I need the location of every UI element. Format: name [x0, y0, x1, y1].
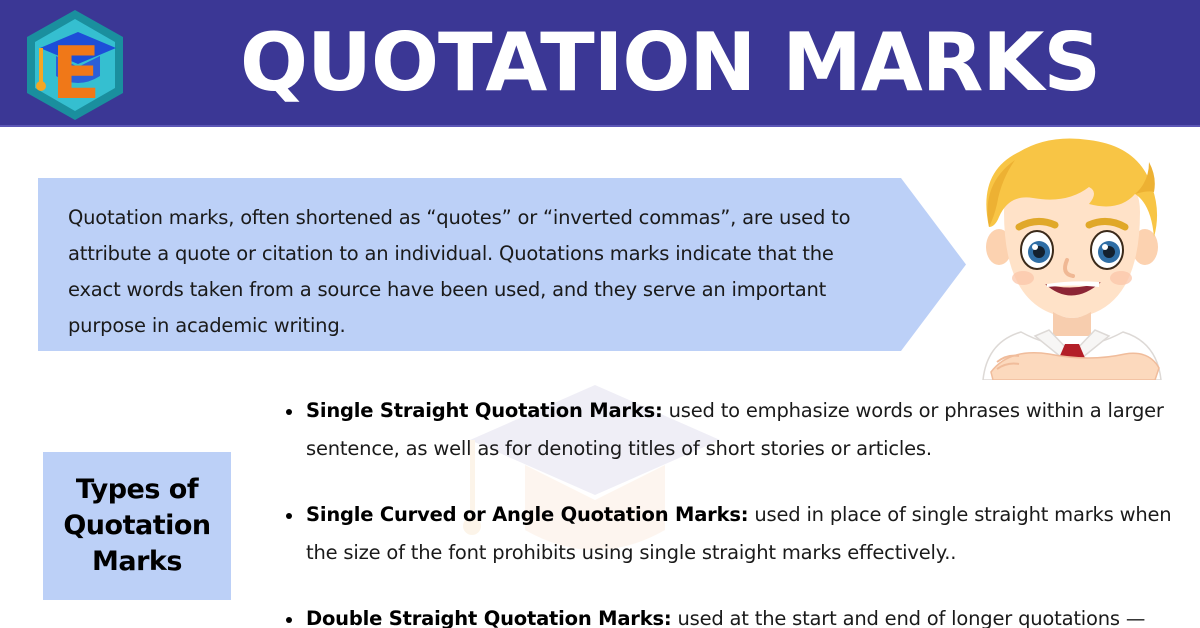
list-item-term: Single Curved or Angle Quotation Marks: [306, 503, 748, 526]
types-label-box: Types of Quotation Marks [43, 452, 231, 600]
intro-callout-box: Quotation marks, often shortened as “quo… [38, 178, 966, 351]
list-item: Double Straight Quotation Marks: used at… [284, 600, 1190, 628]
types-label-text: Types of Quotation Marks [43, 472, 231, 580]
quotation-types-list: Single Straight Quotation Marks: used to… [284, 392, 1190, 628]
list-item: Single Curved or Angle Quotation Marks: … [284, 496, 1190, 572]
infographic-page: E QUOTATION MARKS Quotation marks, often… [0, 0, 1200, 628]
cartoon-boy-illustration [949, 132, 1194, 380]
svg-text:E: E [51, 31, 100, 115]
page-title: QUOTATION MARKS [150, 0, 1190, 125]
list-item: Single Straight Quotation Marks: used to… [284, 392, 1190, 468]
list-item-term: Double Straight Quotation Marks: [306, 607, 671, 628]
e-graduation-cap-logo: E [16, 6, 134, 124]
page-header: E QUOTATION MARKS [0, 0, 1200, 127]
list-item-term: Single Straight Quotation Marks: [306, 399, 663, 422]
intro-paragraph: Quotation marks, often shortened as “quo… [68, 200, 876, 344]
